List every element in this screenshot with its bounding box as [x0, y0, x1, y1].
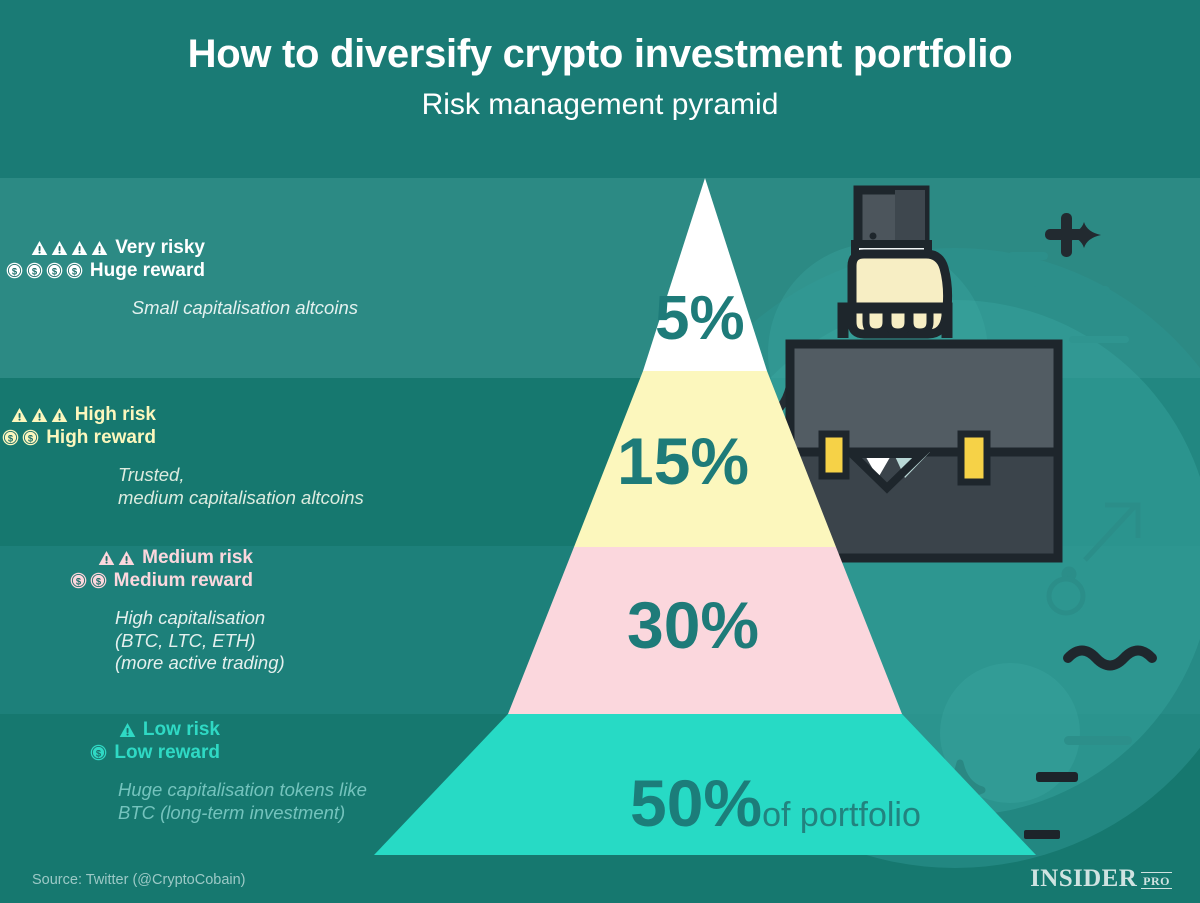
- tier-legend-1: Very risky $$$$ Huge reward Small capita…: [0, 238, 358, 320]
- svg-text:$: $: [72, 265, 78, 276]
- svg-text:$: $: [12, 265, 18, 276]
- svg-text:$: $: [28, 432, 34, 443]
- tier-2-risk-label: High risk: [75, 405, 156, 424]
- tier-4-ratings: Low risk $ Low reward: [0, 720, 378, 762]
- svg-text:$: $: [52, 265, 58, 276]
- tier-1-reward-label: Huge reward: [90, 261, 205, 280]
- tier-legend-3: Medium risk $$ Medium reward High capita…: [0, 548, 353, 675]
- percent-label-tier-3: 30%: [627, 592, 759, 658]
- svg-text:$: $: [8, 432, 14, 443]
- logo-pro-badge: PRO: [1141, 872, 1172, 889]
- tier-4-description: Huge capitalisation tokens likeBTC (long…: [0, 779, 378, 824]
- dollar-coin-icon-group: $$$$: [6, 262, 83, 279]
- warning-triangle-icon-group: [98, 550, 135, 566]
- warning-triangle-icon-group: [31, 240, 108, 256]
- tier-2-risk-row: High risk: [0, 405, 156, 424]
- tier-1-description: Small capitalisation altcoins: [0, 297, 358, 320]
- page-title: How to diversify crypto investment portf…: [0, 33, 1200, 75]
- tier-1-risk-label: Very risky: [115, 238, 205, 257]
- percent-value-tier-3: 30%: [627, 588, 759, 662]
- tier-1-reward-row: $$$$ Huge reward: [0, 261, 205, 280]
- header: How to diversify crypto investment portf…: [0, 0, 1200, 178]
- tier-legend-4: Low risk $ Low reward Huge capitalisatio…: [0, 720, 378, 824]
- source-credit: Source: Twitter (@CryptoCobain): [32, 872, 246, 888]
- tier-legend-2: High risk $$$ High reward Trusted,medium…: [0, 405, 381, 509]
- tier-3-reward-label: Medium reward: [114, 571, 253, 590]
- tier-4-reward-label: Low reward: [114, 743, 220, 762]
- tier-2-reward-label: High reward: [46, 428, 156, 447]
- warning-triangle-icon-group: [11, 407, 68, 423]
- tier-4-reward-row: $ Low reward: [0, 743, 220, 762]
- infographic-canvas: How to diversify crypto investment portf…: [0, 0, 1200, 903]
- tier-3-ratings: Medium risk $$ Medium reward: [0, 548, 353, 590]
- tier-1-ratings: Very risky $$$$ Huge reward: [0, 238, 358, 280]
- percent-label-tier-4: 50%of portfolio: [630, 770, 921, 836]
- tier-2-description: Trusted,medium capitalisation altcoins: [0, 464, 381, 509]
- percent-suffix-tier-4: of portfolio: [762, 796, 921, 834]
- tier-3-description: High capitalisation(BTC, LTC, ETH)(more …: [0, 607, 353, 675]
- svg-text:$: $: [76, 575, 82, 586]
- tier-2-ratings: High risk $$$ High reward: [0, 405, 381, 447]
- percent-value-tier-2: 15%: [617, 424, 749, 498]
- logo-wordmark: INSIDER: [1030, 866, 1137, 891]
- dollar-coin-icon-group: $: [90, 744, 107, 761]
- tier-2-reward-row: $$$ High reward: [0, 428, 156, 447]
- percent-value-tier-4: 50%: [630, 766, 762, 840]
- tier-4-risk-row: Low risk: [0, 720, 220, 739]
- tier-3-risk-label: Medium risk: [142, 548, 253, 567]
- dollar-coin-icon-group: $$$: [0, 429, 39, 446]
- tier-3-reward-row: $$ Medium reward: [0, 571, 253, 590]
- warning-triangle-icon-group: [119, 722, 136, 738]
- svg-text:$: $: [96, 575, 102, 586]
- percent-label-tier-1: 5%: [655, 288, 745, 350]
- tier-3-risk-row: Medium risk: [0, 548, 253, 567]
- tier-4-risk-label: Low risk: [143, 720, 220, 739]
- percent-value-tier-1: 5%: [655, 284, 745, 353]
- svg-text:$: $: [32, 265, 38, 276]
- dollar-coin-icon-group: $$: [70, 572, 107, 589]
- insider-pro-logo: INSIDER PRO: [1030, 866, 1172, 891]
- percent-label-tier-2: 15%: [617, 428, 749, 494]
- svg-text:$: $: [96, 747, 102, 758]
- tier-1-risk-row: Very risky: [0, 238, 205, 257]
- page-subtitle: Risk management pyramid: [0, 88, 1200, 121]
